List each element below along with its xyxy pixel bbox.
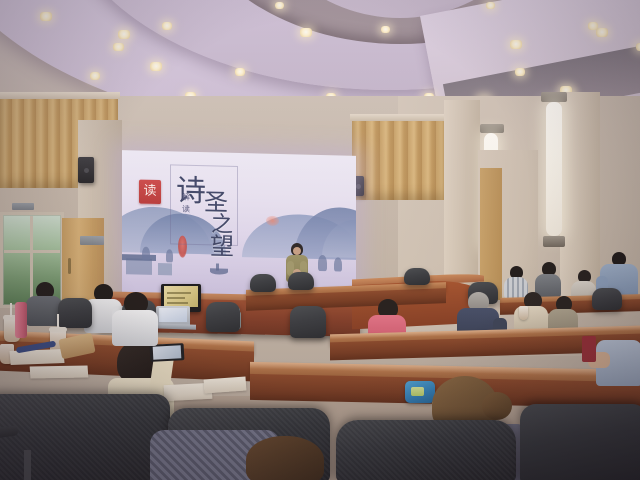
ceiling-downlight [118, 30, 130, 39]
pouch-tag [411, 387, 424, 396]
chair-mid-5[interactable] [592, 288, 622, 310]
ink-village-house [158, 263, 172, 275]
chair-left-4[interactable] [290, 306, 326, 338]
speaker-driver-left [84, 168, 89, 173]
monitor-content-line-3 [167, 302, 188, 304]
ink-tree-center [166, 249, 173, 262]
handout-paper-center-2[interactable] [204, 377, 247, 394]
title-char-4: 望 [210, 226, 234, 262]
presenter-face [293, 247, 301, 255]
chair-left-3[interactable] [206, 302, 240, 332]
ceiling-downlight [113, 43, 124, 52]
speaker-driver-right [356, 184, 361, 189]
monitor-content-line-1 [167, 292, 191, 294]
ink-tree-far-right [334, 257, 342, 271]
ink-boat-figure [216, 263, 219, 270]
led-projection-screen: 读 诗 圣 之 望 解 读 [122, 150, 356, 304]
handout-paper-left-2[interactable] [30, 365, 89, 378]
window-mullion-horizontal [4, 250, 60, 253]
attendee-patterned-hair [246, 436, 324, 480]
wall-sign-plate-lower [80, 236, 104, 245]
milk-tea-cup-2-straw [57, 314, 59, 328]
chair-back-2[interactable] [288, 272, 314, 290]
window-mullion-vertical [30, 216, 33, 304]
lecture-hall-photo: 读 诗 圣 之 望 解 读 [0, 0, 640, 480]
ceiling-downlight [275, 2, 284, 9]
foreground-chair-far-right[interactable] [520, 404, 640, 480]
ceiling-downlight [162, 22, 172, 30]
ceiling-downlight [150, 62, 162, 71]
attendee-midleft-torso [112, 310, 158, 346]
ink-village-roof [122, 254, 156, 261]
seal-stamp: 读 [139, 180, 161, 205]
sconce-cap-top-left [480, 124, 504, 133]
sconce-cap-top-right [541, 92, 567, 102]
pink-thermos[interactable] [15, 302, 27, 338]
laptop-screen [159, 308, 187, 322]
ceiling-downlight [381, 26, 390, 33]
sconce-cap-bottom-right [543, 236, 565, 247]
ceiling-downlight [90, 72, 100, 80]
door-handle-left[interactable] [68, 258, 71, 274]
title-char-1: 诗 [176, 165, 206, 210]
wall-sconce-right [546, 102, 562, 236]
ceiling-downlight [515, 68, 525, 76]
chair-back-1[interactable] [250, 274, 276, 292]
ceiling-downlight [235, 68, 245, 76]
ceiling-downlight [636, 43, 640, 52]
subtitle-char-2: 读 [182, 204, 190, 215]
ceiling-downlight [40, 12, 52, 21]
ink-boat [210, 268, 228, 274]
slat-cap-left [0, 92, 120, 99]
ceiling-downlight [486, 2, 495, 9]
ink-tree-right [318, 255, 327, 271]
monitor-content-line-2 [167, 297, 185, 299]
wood-slat-panel-center [352, 118, 444, 200]
red-cup-right[interactable] [582, 336, 596, 362]
foreground-chair-right-texture [336, 420, 516, 480]
wall-sign-plate-upper [12, 203, 34, 210]
slat-cap-center [350, 114, 446, 121]
chair-back-3[interactable] [404, 268, 430, 285]
smartphone-screen [153, 345, 182, 359]
attendee-bun-knot [482, 392, 512, 420]
ceiling-downlight [510, 40, 522, 49]
subtitle-char-1: 解 [182, 192, 190, 203]
ceiling-downlight [300, 28, 312, 37]
cup-mid-row[interactable] [519, 306, 528, 320]
milk-tea-cup-1-straw [10, 303, 12, 317]
chair-left-1[interactable] [58, 298, 92, 328]
ink-tree-left [142, 247, 150, 261]
ink-sun-accent [266, 216, 279, 226]
foreground-chair-left-post [24, 450, 31, 480]
ceiling-downlight [596, 28, 608, 37]
